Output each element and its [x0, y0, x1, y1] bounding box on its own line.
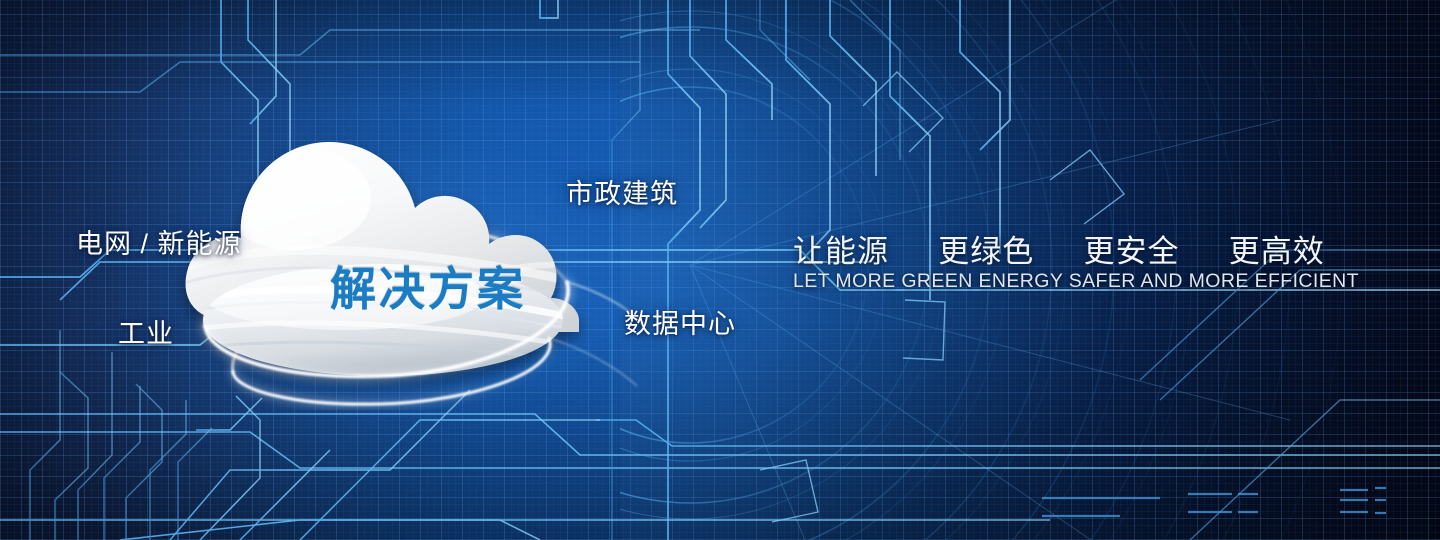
- slogan-part-2: 更绿色: [938, 226, 1034, 271]
- label-grid-new-energy: 电网 / 新能源: [76, 222, 242, 261]
- slogan-part-3: 更安全: [1084, 226, 1180, 271]
- label-data-center: 数据中心: [624, 302, 736, 341]
- slogan-part-4: 更高效: [1229, 226, 1325, 271]
- label-municipal-building: 市政建筑: [566, 172, 678, 211]
- solution-title: 解决方案: [330, 253, 526, 319]
- solution-banner: 电网 / 新能源 工业 市政建筑 数据中心 解决方案 让能源 更绿色 更安全 更…: [0, 0, 1440, 540]
- slogan-english: LET MORE GREEN ENERGY SAFER AND MORE EFF…: [793, 270, 1359, 293]
- slogan-part-1: 让能源: [793, 226, 889, 271]
- label-industry: 工业: [118, 312, 174, 351]
- slogan-chinese: 让能源 更绿色 更安全 更高效: [793, 226, 1325, 271]
